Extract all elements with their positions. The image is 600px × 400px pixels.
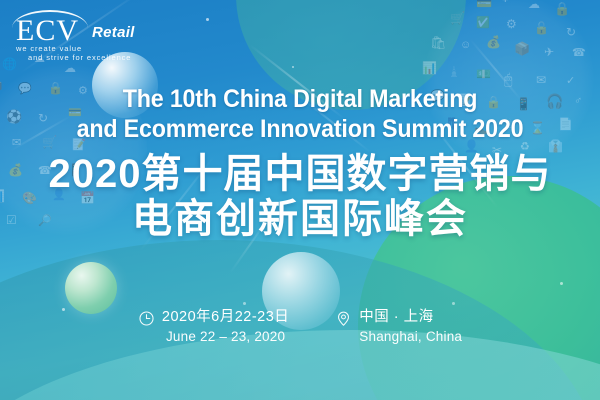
decor-dot	[292, 66, 294, 68]
event-location-block: 中国 · 上海 Shanghai, China	[335, 308, 462, 346]
event-location-english: Shanghai, China	[359, 327, 462, 346]
logo-tagline: we create value and strive for excellenc…	[16, 44, 131, 62]
title-chinese-line1: 2020第十届中国数字营销与	[0, 152, 600, 197]
green-sphere	[65, 262, 117, 314]
map-pin-icon	[335, 310, 352, 327]
logo-tagline-line2: and strive for excellence	[16, 53, 131, 62]
logo-suffix: Retail	[92, 24, 135, 41]
decor-dot	[243, 302, 246, 305]
event-date-text: 2020年6月22-23日 June 22 – 23, 2020	[162, 308, 289, 346]
logo-text: ECV	[16, 16, 79, 46]
title-english: The 10th China Digital Marketing and Eco…	[21, 84, 579, 144]
event-location-text: 中国 · 上海 Shanghai, China	[359, 308, 462, 346]
event-date-english: June 22 – 23, 2020	[162, 327, 289, 346]
event-date-chinese: 2020年6月22-23日	[162, 308, 289, 327]
brand-logo: ECV Retail we create value and strive fo…	[10, 8, 170, 56]
decor-dot	[560, 282, 563, 285]
decor-dot	[452, 302, 455, 305]
event-date-block: 2020年6月22-23日 June 22 – 23, 2020	[138, 308, 289, 346]
clock-icon	[138, 310, 155, 327]
title-english-line1: The 10th China Digital Marketing	[21, 84, 579, 114]
title-chinese-line2: 电商创新国际峰会	[0, 197, 600, 242]
decor-dot	[206, 18, 209, 21]
logo-tagline-line1: we create value	[16, 44, 82, 53]
event-banner: 💳 ¥ ☁ 🔒 🛒 ✅ ⚙ 🔓 ↻ 🛍 ☺ 💰 📦 ✈ ☎ 📊 🛓 💵 🖱 ✉ …	[0, 0, 600, 400]
title-english-line2: and Ecommerce Innovation Summit 2020	[21, 114, 579, 144]
event-location-chinese: 中国 · 上海	[359, 308, 462, 327]
decor-dot	[100, 286, 102, 288]
event-info-bar: 2020年6月22-23日 June 22 – 23, 2020 中国 · 上海…	[0, 308, 600, 346]
title-chinese: 2020第十届中国数字营销与 电商创新国际峰会	[0, 152, 600, 242]
